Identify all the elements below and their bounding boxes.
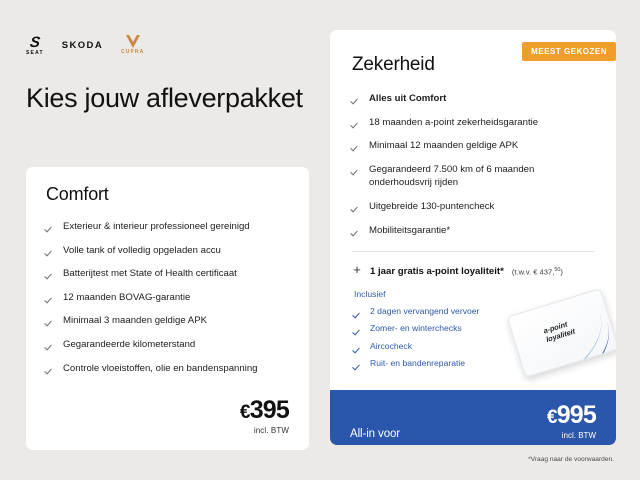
list-item: Volle tank of volledig opgeladen accu: [46, 244, 289, 258]
bonus-row: + 1 jaar gratis a-point loyaliteit* (t.w…: [352, 265, 594, 277]
inclusief-item-label: Aircocheck: [370, 341, 412, 352]
inclusief-title: Inclusief: [354, 289, 594, 299]
zekerheid-price-amount: 995: [557, 401, 596, 429]
zekerheid-price-note: incl. BTW: [547, 431, 596, 440]
currency-symbol: €: [240, 402, 250, 423]
list-item: Controle vloeistoffen, olie en bandenspa…: [46, 362, 289, 376]
check-icon: [46, 293, 55, 302]
comfort-price: €395: [240, 398, 289, 423]
check-icon: [352, 202, 361, 211]
zekerheid-feature-label: Mobiliteitsgarantie*: [369, 224, 594, 238]
zekerheid-feature-list: Alles uit Comfort 18 maanden a-point zek…: [352, 92, 594, 237]
inclusief-item-label: Zomer- en winterchecks: [370, 323, 462, 334]
cupra-logo-wordmark: CUPRA: [121, 50, 144, 55]
zekerheid-feature-label: Uitgebreide 130-puntencheck: [369, 200, 594, 214]
list-item: Minimaal 3 maanden geldige APK: [46, 314, 289, 328]
zekerheid-feature-label: 18 maanden a-point zekerheidsgarantie: [369, 116, 594, 130]
check-icon: [46, 222, 55, 231]
bonus-value-suffix: ): [560, 267, 563, 276]
zekerheid-feature-label: Minimaal 12 maanden geldige APK: [369, 139, 594, 153]
seat-logo-mark: S: [29, 35, 40, 50]
footnote: *Vraag naar de voorwaarden.: [528, 456, 614, 463]
list-item: Minimaal 12 maanden geldige APK: [352, 139, 594, 153]
list-item: Uitgebreide 130-puntencheck: [352, 200, 594, 214]
check-icon: [354, 360, 363, 369]
comfort-feature-label: Batterijtest met State of Health certifi…: [63, 267, 289, 281]
check-icon: [352, 165, 361, 174]
comfort-price-note: incl. BTW: [240, 426, 289, 435]
comfort-title: Comfort: [46, 184, 289, 205]
check-icon: [352, 141, 361, 150]
check-icon: [46, 246, 55, 255]
comfort-feature-label: Gegarandeerde kilometerstand: [63, 338, 289, 352]
offer-page: S SEAT SKODA CUPRA Kies jouw afleverpakk…: [0, 0, 640, 480]
inclusief-section: Inclusief 2 dagen vervangend vervoer Zom…: [352, 289, 594, 369]
plus-icon: +: [352, 265, 362, 275]
comfort-feature-label: Minimaal 3 maanden geldige APK: [63, 314, 289, 328]
check-icon: [352, 226, 361, 235]
check-icon: [354, 325, 363, 334]
check-icon: [46, 316, 55, 325]
cupra-logo: CUPRA: [121, 35, 144, 55]
inclusief-item-label: Ruit- en bandenreparatie: [370, 358, 465, 369]
bonus-value-prefix: (t.w.v. € 437,: [512, 267, 555, 276]
bonus-value-note: (t.w.v. € 437,50): [512, 267, 563, 277]
list-item: Gegarandeerd 7.500 km of 6 maanden onder…: [352, 163, 594, 190]
zekerheid-feature-label: Alles uit Comfort: [369, 92, 594, 106]
list-item: 12 maanden BOVAG-garantie: [46, 291, 289, 305]
seat-logo-wordmark: SEAT: [26, 51, 44, 56]
allin-price-block: €995 incl. BTW: [547, 403, 596, 440]
check-icon: [46, 269, 55, 278]
currency-symbol: €: [547, 407, 557, 428]
brand-logo-bar: S SEAT SKODA CUPRA: [26, 33, 144, 57]
comfort-feature-label: Controle vloeistoffen, olie en bandenspa…: [63, 362, 289, 376]
check-icon: [46, 364, 55, 373]
bonus-label: 1 jaar gratis a-point loyaliteit*: [370, 266, 504, 277]
skoda-logo: SKODA: [62, 40, 103, 51]
allin-row: All-in voor €995 incl. BTW: [350, 403, 596, 440]
list-item: Alles uit Comfort: [352, 92, 594, 106]
list-item: Batterijtest met State of Health certifi…: [46, 267, 289, 281]
check-icon: [352, 94, 361, 103]
check-icon: [354, 343, 363, 352]
check-icon: [354, 308, 363, 317]
list-item: Mobiliteitsgarantie*: [352, 224, 594, 238]
check-icon: [352, 118, 361, 127]
seat-logo: S SEAT: [26, 35, 44, 56]
zekerheid-feature-label: Gegarandeerd 7.500 km of 6 maanden onder…: [369, 163, 594, 190]
zekerheid-body: MEEST GEKOZEN Zekerheid Alles uit Comfor…: [330, 30, 616, 369]
list-item: 18 maanden a-point zekerheidsgarantie: [352, 116, 594, 130]
check-icon: [46, 340, 55, 349]
list-item: Exterieur & interieur professioneel gere…: [46, 220, 289, 234]
comfort-feature-list: Exterieur & interieur professioneel gere…: [46, 220, 289, 375]
list-item: Gegarandeerde kilometerstand: [46, 338, 289, 352]
comfort-feature-label: Exterieur & interieur professioneel gere…: [63, 220, 289, 234]
inclusief-item-label: 2 dagen vervangend vervoer: [370, 306, 479, 317]
allin-label: All-in voor: [350, 428, 400, 440]
zekerheid-price: €995: [547, 403, 596, 428]
cupra-triangle-icon: [126, 35, 140, 48]
status-badge: MEEST GEKOZEN: [522, 42, 616, 61]
page-title: Kies jouw afleverpakket: [26, 82, 306, 115]
loyalty-card-image: a-point loyaliteit: [507, 288, 616, 378]
allin-price-bar: All-in voor €995 incl. BTW: [330, 390, 616, 445]
comfort-feature-label: 12 maanden BOVAG-garantie: [63, 291, 289, 305]
zekerheid-package-card[interactable]: MEEST GEKOZEN Zekerheid Alles uit Comfor…: [330, 30, 616, 445]
comfort-feature-label: Volle tank of volledig opgeladen accu: [63, 244, 289, 258]
comfort-package-card[interactable]: Comfort Exterieur & interieur profession…: [26, 167, 309, 450]
comfort-price-amount: 395: [250, 396, 289, 424]
section-divider: [352, 251, 594, 252]
comfort-price-block: €395 incl. BTW: [240, 398, 289, 435]
